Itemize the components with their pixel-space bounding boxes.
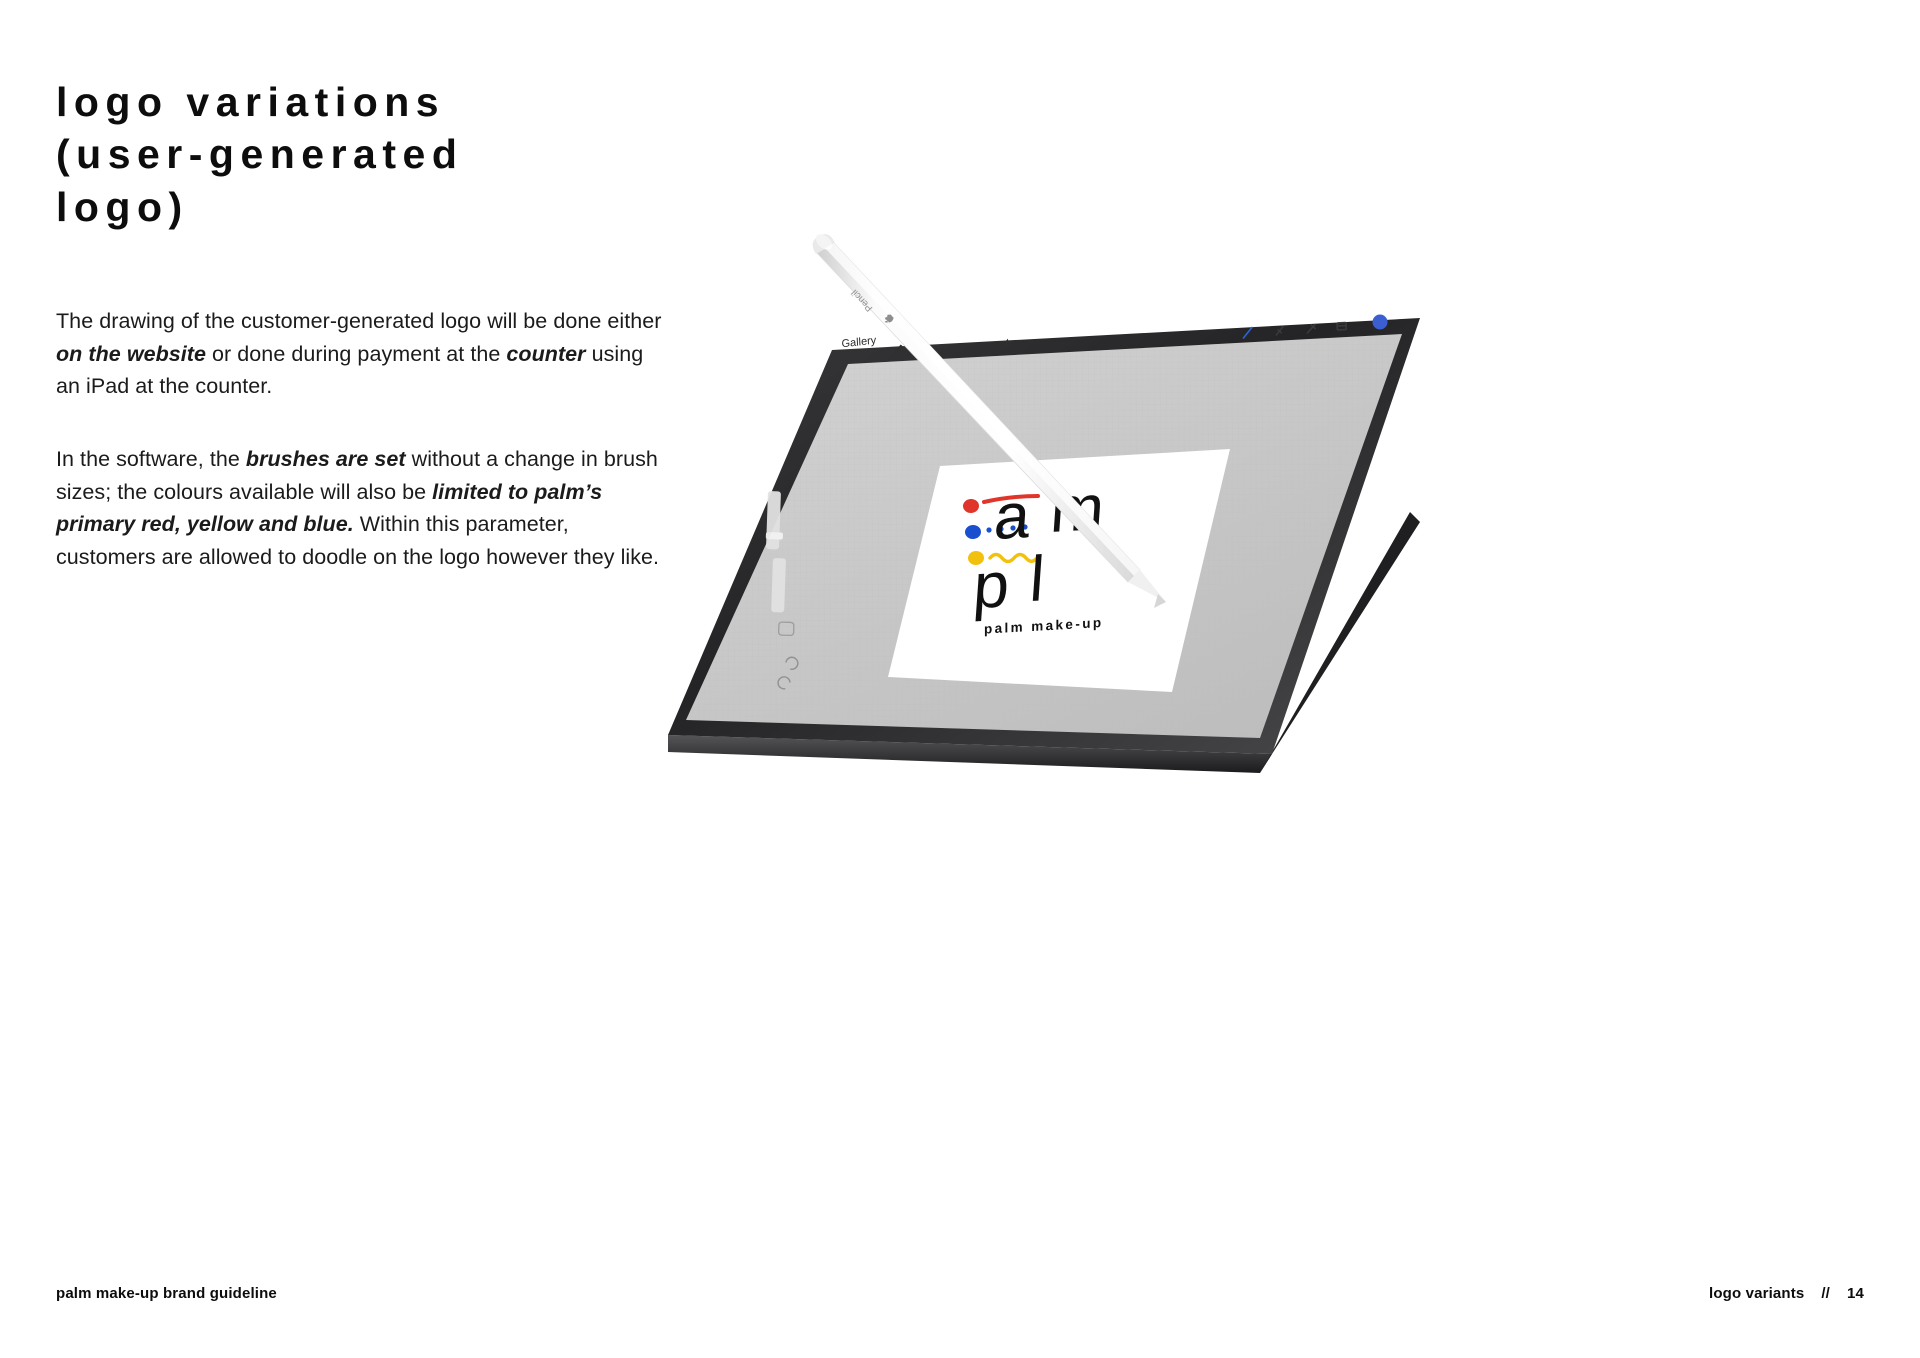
- footer-section-label: logo variants: [1709, 1285, 1804, 1302]
- svg-text:p: p: [971, 548, 1012, 622]
- footer-page-number: 14: [1847, 1285, 1864, 1302]
- ipad-mockup-illustration: Gallery: [620, 230, 1480, 810]
- brush-opacity-slider[interactable]: [771, 558, 786, 612]
- color-swatch-icon[interactable]: [1373, 315, 1388, 330]
- footer-document-title: palm make-up brand guideline: [56, 1285, 277, 1302]
- body-copy-column: The drawing of the customer-generated lo…: [56, 305, 668, 574]
- paragraph-1: The drawing of the customer-generated lo…: [56, 305, 668, 403]
- paragraph-2: In the software, the brushes are set wit…: [56, 443, 668, 574]
- footer-meta: logo variants // 14: [1709, 1285, 1864, 1302]
- page-title: logo variations (user-generated logo): [56, 76, 696, 233]
- footer-separator: //: [1821, 1285, 1830, 1302]
- brush-size-slider[interactable]: [766, 491, 781, 549]
- svg-text:a: a: [992, 479, 1033, 553]
- slider-knob[interactable]: [766, 532, 783, 540]
